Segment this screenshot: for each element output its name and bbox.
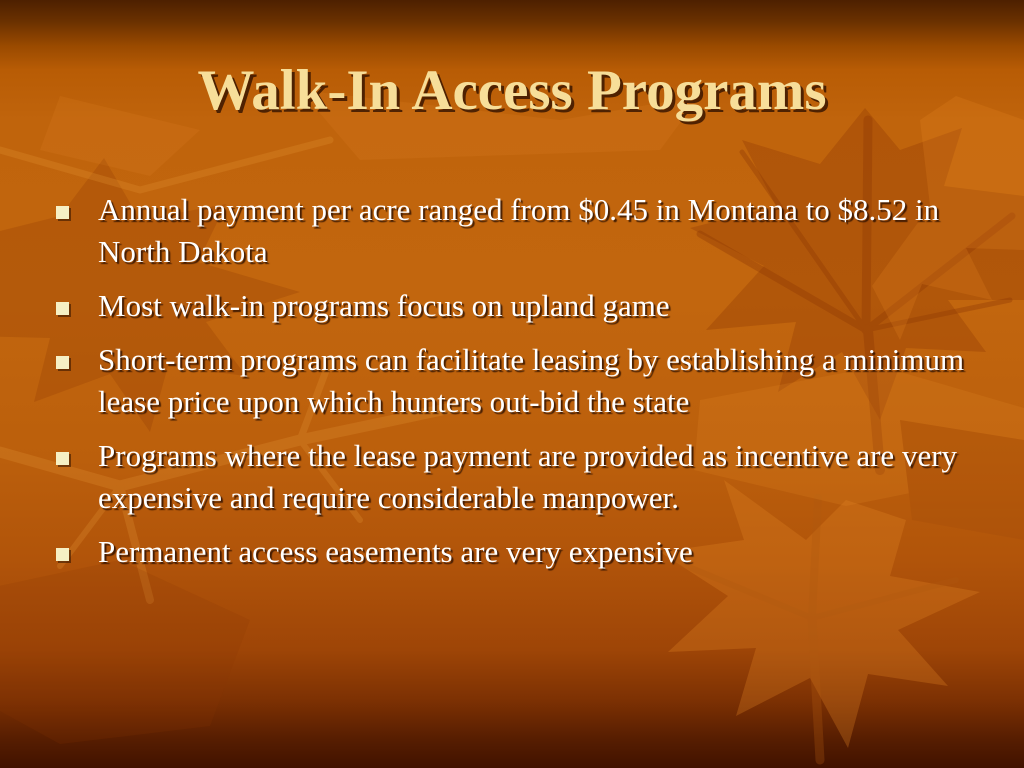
- bullet-item: Programs where the lease payment are pro…: [56, 435, 986, 519]
- bullet-text: Short-term programs can facilitate leasi…: [98, 339, 978, 423]
- bullet-item: Permanent access easements are very expe…: [56, 531, 986, 573]
- bullet-item: Short-term programs can facilitate leasi…: [56, 339, 986, 423]
- bullet-item: Annual payment per acre ranged from $0.4…: [56, 189, 986, 273]
- slide-title: Walk-In Access Programs: [0, 58, 1024, 123]
- bullet-text: Programs where the lease payment are pro…: [98, 435, 978, 519]
- square-bullet-icon: [56, 356, 69, 369]
- square-bullet-icon: [56, 302, 69, 315]
- square-bullet-icon: [56, 206, 69, 219]
- slide-body-content: Annual payment per acre ranged from $0.4…: [56, 189, 986, 585]
- presentation-slide: Walk-In Access Programs Annual payment p…: [0, 0, 1024, 768]
- bullet-text: Most walk-in programs focus on upland ga…: [98, 285, 978, 327]
- bullet-text: Permanent access easements are very expe…: [98, 531, 978, 573]
- leaf-shape-lower-left: [0, 560, 250, 744]
- square-bullet-icon: [56, 452, 69, 465]
- bullet-item: Most walk-in programs focus on upland ga…: [56, 285, 986, 327]
- square-bullet-icon: [56, 548, 69, 561]
- bullet-text: Annual payment per acre ranged from $0.4…: [98, 189, 978, 273]
